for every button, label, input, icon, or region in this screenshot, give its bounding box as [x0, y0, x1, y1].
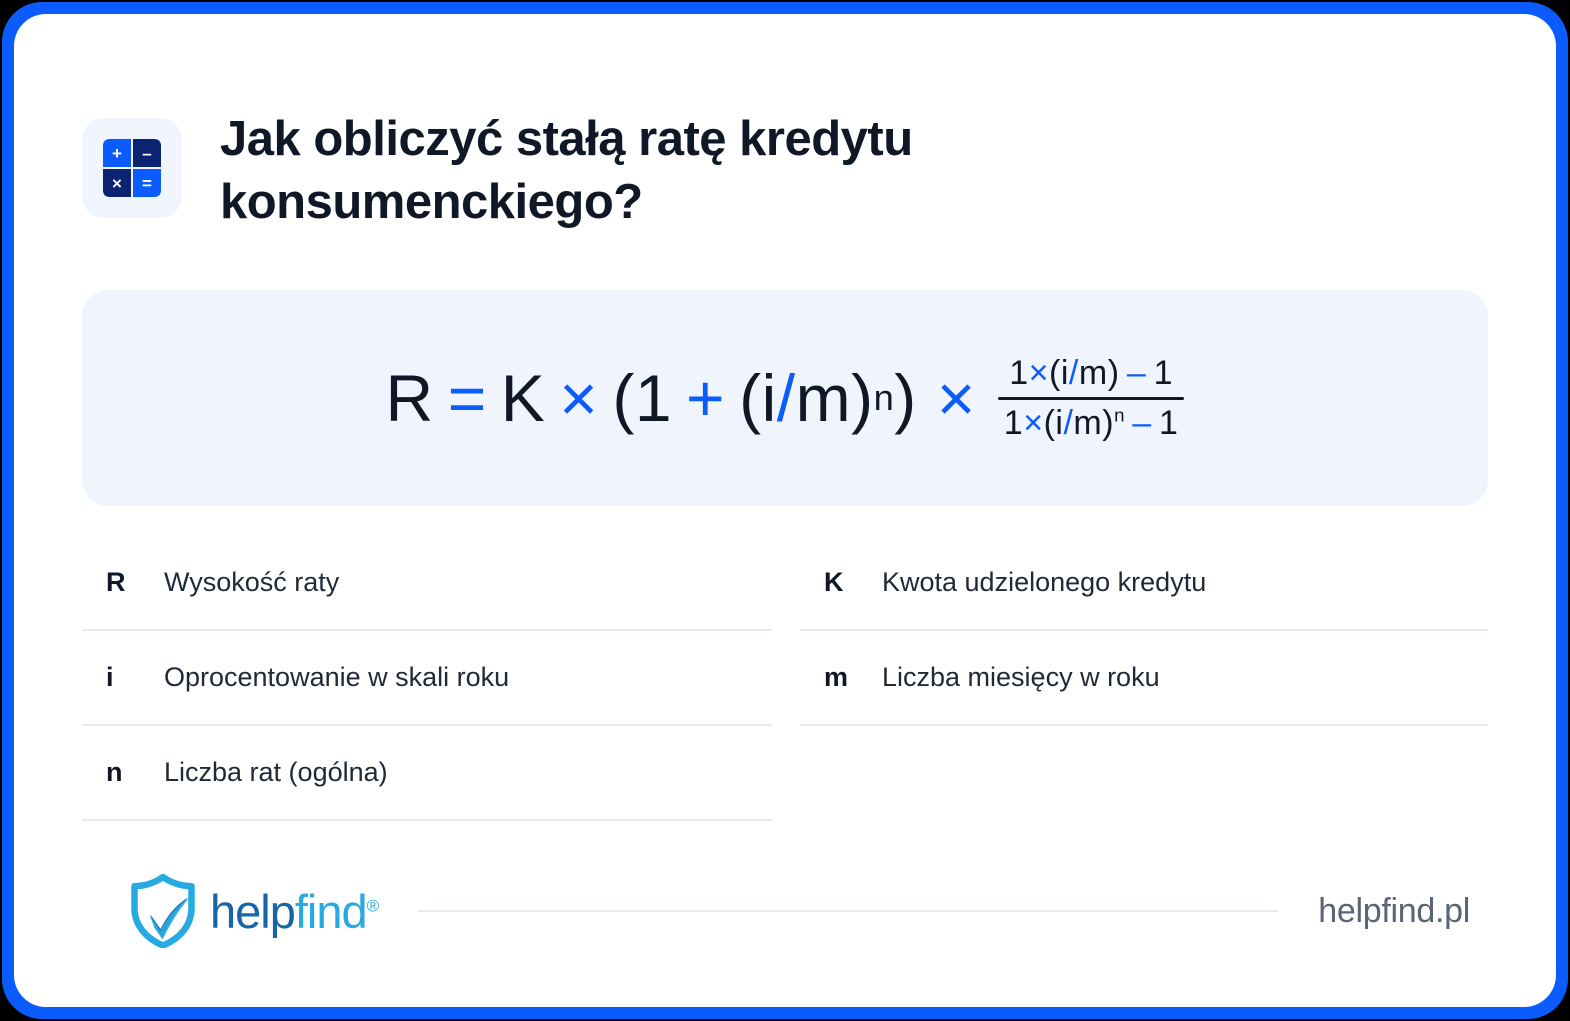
formula-times-2: × — [937, 360, 976, 436]
minus-glyph: – — [142, 145, 151, 162]
formula-m: m — [796, 360, 851, 436]
fraction-denominator: 1×(i/m)n – 1 — [998, 400, 1185, 447]
legend-column-left: R Wysokość raty i Oprocentowanie w skali… — [82, 536, 772, 821]
legend-row-R: R Wysokość raty — [82, 536, 772, 631]
num-m: m — [1079, 354, 1108, 392]
num-i: i — [1061, 354, 1069, 392]
num-times: × — [1029, 354, 1049, 392]
logo-help-text: help — [210, 885, 295, 938]
num-close: ) — [1108, 354, 1120, 392]
formula-close-paren: ) — [894, 360, 916, 436]
calculator-icon-badge: + – × = — [82, 118, 182, 218]
legend-row-n: n Liczba rat (ogólna) — [82, 726, 772, 821]
formula-plus: + — [686, 360, 725, 436]
equals-glyph: = — [142, 175, 152, 192]
plus-glyph: + — [112, 145, 122, 162]
legend-symbol: i — [82, 662, 164, 693]
legend-description: Kwota udzielonego kredytu — [882, 567, 1206, 598]
legend-row-m: m Liczba miesięcy w roku — [800, 631, 1488, 726]
num-slash: / — [1069, 354, 1079, 392]
legend-description: Wysokość raty — [164, 567, 339, 598]
logo-find-text: find — [295, 885, 367, 938]
formula-slash: / — [777, 360, 796, 436]
logo-wordmark: helpfind® — [210, 888, 378, 935]
legend-row-K: K Kwota udzielonego kredytu — [800, 536, 1488, 631]
footer: helpfind® helpfind.pl — [82, 856, 1488, 966]
calculator-icon: + – × = — [103, 139, 161, 197]
den-m: m — [1073, 404, 1102, 442]
den-one: 1 — [1004, 404, 1023, 442]
num-minus: – — [1127, 354, 1146, 392]
formula-panel: R = K × ( 1 + ( i / m ) n ) — [82, 290, 1488, 506]
helpfind-logo[interactable]: helpfind® — [82, 874, 378, 948]
footer-divider — [418, 910, 1278, 912]
times-glyph: × — [112, 175, 122, 192]
legend-row-i: i Oprocentowanie w skali roku — [82, 631, 772, 726]
formula-one: 1 — [635, 360, 672, 436]
infographic-card: + – × = Jak obliczyć stałą ratę kredytu … — [14, 14, 1556, 1007]
screenshot-frame: + – × = Jak obliczyć stałą ratę kredytu … — [0, 0, 1570, 1021]
footer-url[interactable]: helpfind.pl — [1318, 892, 1488, 931]
legend-symbol: R — [82, 567, 164, 598]
page-title: Jak obliczyć stałą ratę kredytu konsumen… — [220, 108, 1100, 233]
num-one-2: 1 — [1154, 354, 1173, 392]
formula-i: i — [762, 360, 777, 436]
header: + – × = Jak obliczyć stałą ratę kredytu … — [82, 108, 1100, 233]
den-minus: – — [1132, 404, 1151, 442]
shield-check-logo-icon — [130, 874, 196, 948]
legend-row-spacer — [800, 726, 1488, 821]
legend-symbol: m — [800, 662, 882, 693]
den-exponent-n: n — [1114, 404, 1125, 425]
num-open: ( — [1049, 354, 1061, 392]
den-slash: / — [1063, 404, 1073, 442]
legend-description: Liczba rat (ogólna) — [164, 757, 388, 788]
num-one: 1 — [1009, 354, 1028, 392]
legend-symbol: n — [82, 757, 164, 788]
formula-equals: = — [448, 360, 487, 436]
logo-registered-mark: ® — [367, 896, 379, 915]
fraction-numerator: 1×(i/m) – 1 — [998, 350, 1185, 397]
formula-expression: R = K × ( 1 + ( i / m ) n ) — [386, 350, 1185, 447]
formula-inner-close-paren: ) — [851, 360, 873, 436]
legend-description: Oprocentowanie w skali roku — [164, 662, 509, 693]
formula-open-paren: ( — [612, 360, 634, 436]
formula-inner-open-paren: ( — [739, 360, 761, 436]
den-close: ) — [1102, 404, 1114, 442]
legend-symbol: K — [800, 567, 882, 598]
calculator-key-times: × — [103, 169, 131, 197]
den-times: × — [1023, 404, 1043, 442]
calculator-key-minus: – — [133, 139, 161, 167]
calculator-key-plus: + — [103, 139, 131, 167]
legend-description: Liczba miesięcy w roku — [882, 662, 1160, 693]
calculator-key-equals: = — [133, 169, 161, 197]
formula-fraction: 1×(i/m) – 1 1×(i/m)n – 1 — [998, 350, 1185, 447]
formula-R: R — [386, 360, 434, 436]
formula-K: K — [501, 360, 546, 436]
legend-table: R Wysokość raty i Oprocentowanie w skali… — [82, 536, 1488, 821]
formula-times-1: × — [559, 360, 598, 436]
legend-column-right: K Kwota udzielonego kredytu m Liczba mie… — [800, 536, 1488, 821]
den-one-2: 1 — [1159, 404, 1178, 442]
den-open: ( — [1044, 404, 1056, 442]
